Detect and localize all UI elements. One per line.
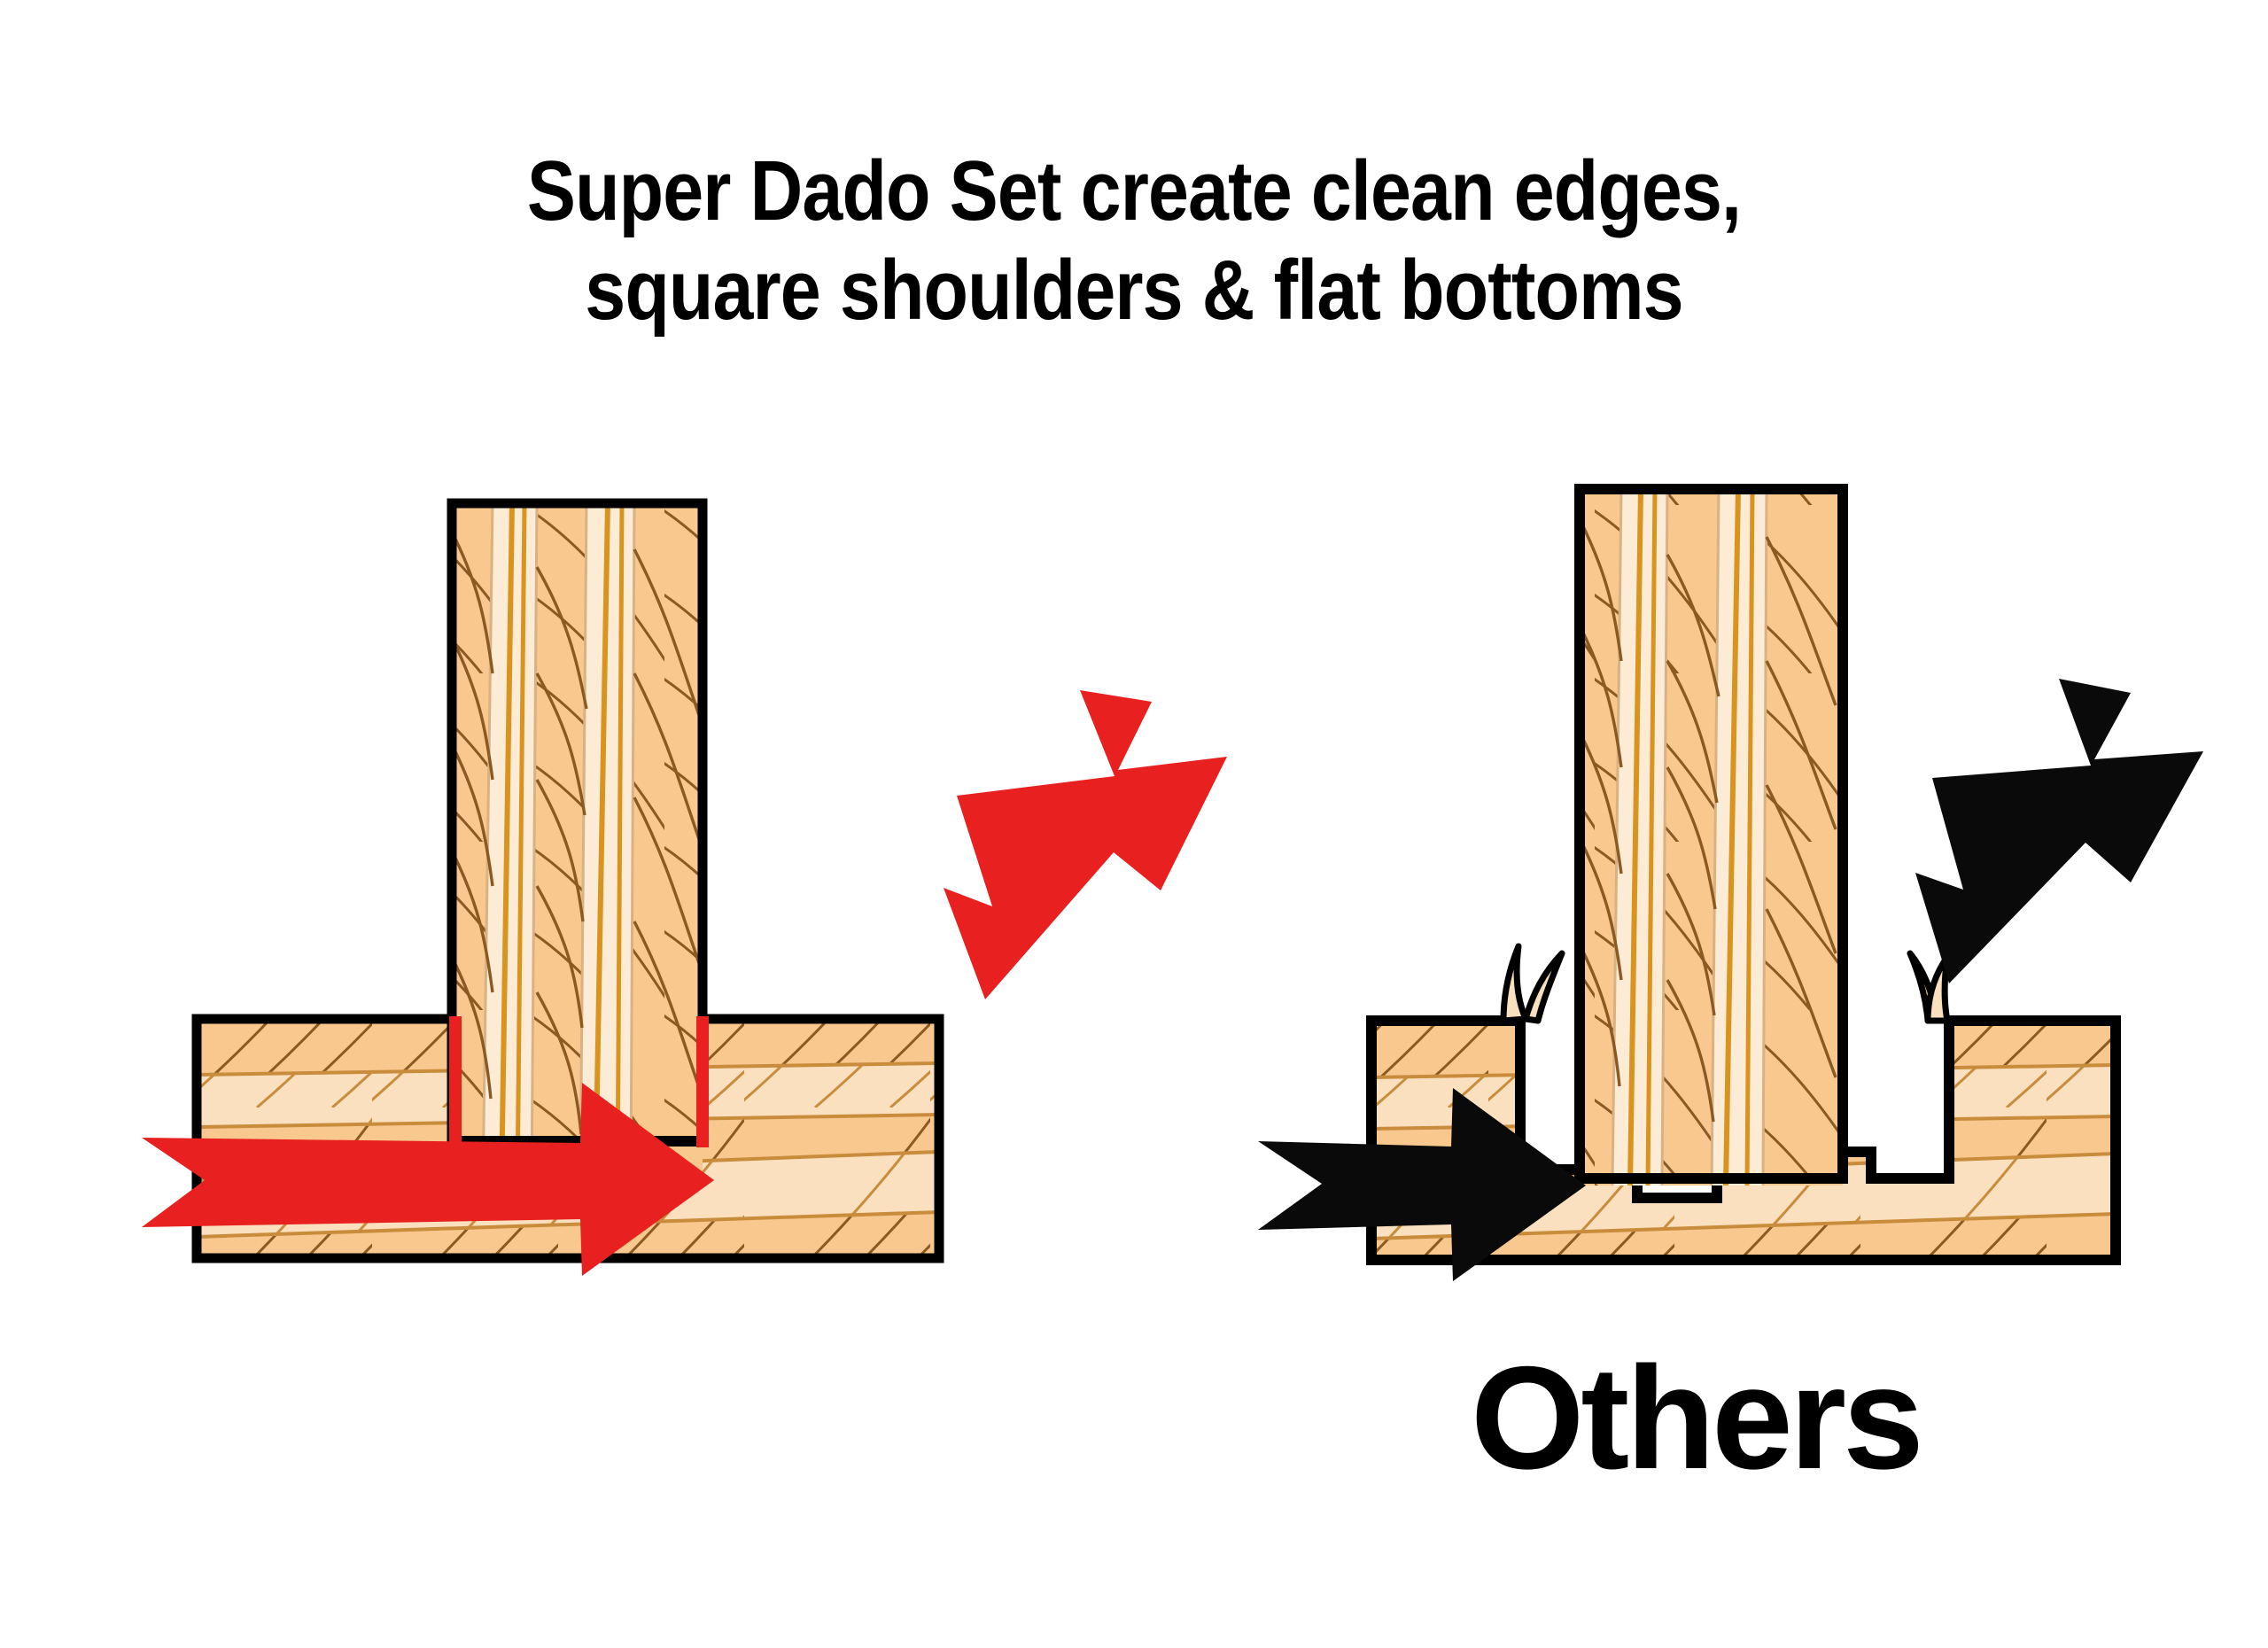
others-figure bbox=[0, 0, 2268, 1648]
right-vertical-board bbox=[1580, 489, 1843, 1185]
illustration-page: Super Dado Set create clean edges, squar… bbox=[0, 0, 2268, 1648]
left-splinter-icon bbox=[1503, 946, 1562, 1021]
others-label: Others bbox=[1471, 1341, 1921, 1496]
arrow-diagonal-down-left-icon bbox=[1915, 679, 2203, 983]
right-splinter-icon bbox=[1910, 953, 1947, 1021]
